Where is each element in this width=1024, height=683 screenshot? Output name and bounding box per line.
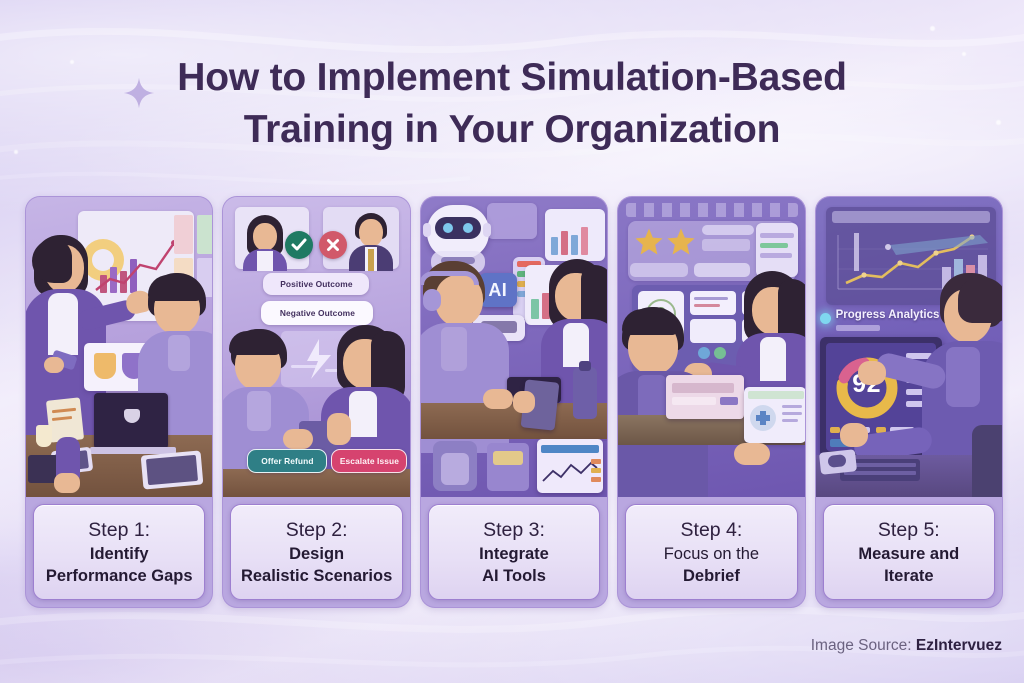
step-3-line-2: AI Tools <box>482 565 546 587</box>
step-2-number: Step 2: <box>286 518 348 543</box>
headset-icon <box>421 271 479 285</box>
offer-refund-label: Offer Refund <box>261 456 313 466</box>
step-1-line-1: Identify <box>90 543 149 565</box>
step-2-caption-card[interactable]: Step 2: Design Realistic Scenarios <box>230 504 402 600</box>
step-3-line-1: Integrate <box>479 543 549 565</box>
step-4-caption-card[interactable]: Step 4: Focus on the Debrief <box>625 504 797 600</box>
offer-refund-button[interactable]: Offer Refund <box>247 449 327 473</box>
negative-outcome-chip[interactable]: Negative Outcome <box>261 301 373 325</box>
step-2-illustration: Positive Outcome Negative Outcome <box>223 197 409 497</box>
image-source-attribution: Image Source: EzIntervuez <box>811 637 1002 655</box>
escalate-issue-button[interactable]: Escalate Issue <box>331 449 407 473</box>
step-5-number: Step 5: <box>878 518 940 543</box>
positive-outcome-label: Positive Outcome <box>280 279 352 289</box>
step-5-caption-card[interactable]: Step 5: Measure and Iterate <box>823 504 995 600</box>
positive-outcome-chip[interactable]: Positive Outcome <box>263 273 369 295</box>
step-4-line-1: Focus on the <box>664 543 759 565</box>
step-1-number: Step 1: <box>88 518 150 543</box>
image-source-prefix: Image Source: <box>811 637 916 654</box>
page-title-line-2: Training in Your Organization <box>0 104 1024 156</box>
step-panel-3[interactable]: AI <box>420 196 608 608</box>
glow-dot <box>820 313 831 324</box>
step-panel-1[interactable]: Step 1: Identify Performance Gaps <box>25 196 213 608</box>
step-4-line-2: Debrief <box>683 565 740 587</box>
escalate-issue-label: Escalate Issue <box>340 456 399 466</box>
step-4-number: Step 4: <box>681 518 743 543</box>
negative-outcome-label: Negative Outcome <box>280 308 355 318</box>
step-3-caption-card[interactable]: Step 3: Integrate AI Tools <box>428 504 600 600</box>
steps-strip: Step 1: Identify Performance Gaps <box>25 196 1003 606</box>
step-5-line-2: Iterate <box>884 565 934 587</box>
step-panel-5[interactable]: Progress Analytics 92 <box>815 196 1003 608</box>
step-1-caption-card[interactable]: Step 1: Identify Performance Gaps <box>33 504 205 600</box>
step-panel-4[interactable]: Step 4: Focus on the Debrief <box>617 196 805 608</box>
step-panel-2[interactable]: Positive Outcome Negative Outcome <box>222 196 410 608</box>
step-2-line-1: Design <box>289 543 344 565</box>
infographic-canvas: How to Implement Simulation-Based Traini… <box>0 0 1024 683</box>
step-4-illustration <box>618 197 804 497</box>
sparkle-dot <box>930 26 935 31</box>
step-3-number: Step 3: <box>483 518 545 543</box>
step-2-line-2: Realistic Scenarios <box>241 565 392 587</box>
image-source-name: EzIntervuez <box>916 637 1002 654</box>
step-5-line-1: Measure and <box>858 543 959 565</box>
star-icon <box>666 227 696 257</box>
step-3-illustration: AI <box>421 197 607 497</box>
step-1-line-2: Performance Gaps <box>46 565 193 587</box>
step-1-illustration <box>26 197 212 497</box>
step-5-illustration: Progress Analytics 92 <box>816 197 1002 497</box>
four-point-sparkle-icon <box>122 76 156 110</box>
star-icon <box>634 227 664 257</box>
